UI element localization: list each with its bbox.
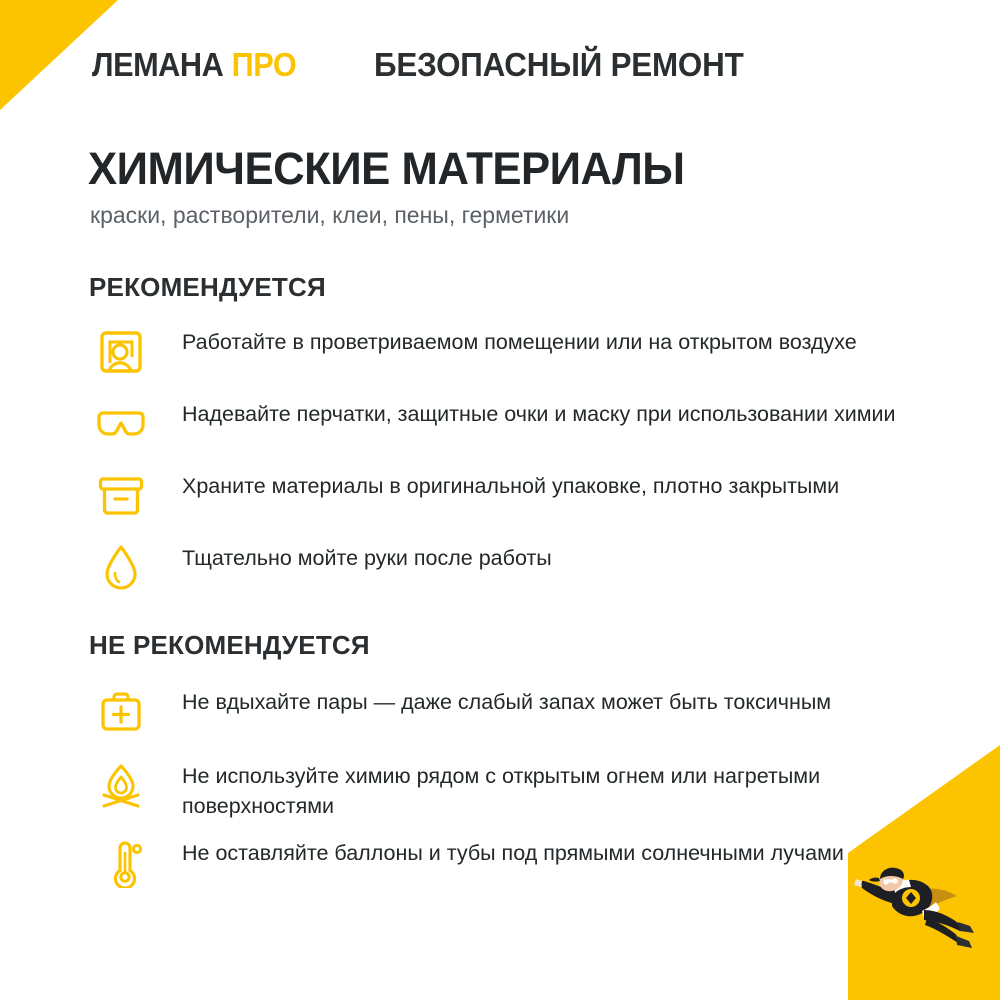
campfire-icon xyxy=(92,758,150,814)
list-item-text: Не используйте химию рядом с открытым ог… xyxy=(150,756,922,821)
list-item: Работайте в проветриваемом помещении или… xyxy=(92,322,922,384)
poster-header: ЛЕМАНАПРО БЕЗОПАСНЫЙ РЕМОНТ xyxy=(92,42,940,88)
list-item-text: Не вдыхайте пары — даже слабый запах мож… xyxy=(150,682,922,717)
window-person-icon xyxy=(92,324,150,380)
brand-logo-main: ЛЕМАНА xyxy=(92,46,223,83)
list-item-text: Тщательно мойте руки после работы xyxy=(150,538,922,573)
brand-logo-accent: ПРО xyxy=(232,46,297,83)
poster-canvas: ЛЕМАНАПРО БЕЗОПАСНЫЙ РЕМОНТ ХИМИЧЕСКИЕ М… xyxy=(0,0,1000,1000)
flying-superhero-mascot-icon xyxy=(832,848,982,958)
list-item: Не используйте химию рядом с открытым ог… xyxy=(92,756,922,821)
not-recommended-list: Не вдыхайте пары — даже слабый запах мож… xyxy=(92,682,922,907)
list-item: Надевайте перчатки, защитные очки и маск… xyxy=(92,394,922,456)
list-item-text: Не оставляйте баллоны и тубы под прямыми… xyxy=(150,833,922,868)
list-item: Храните материалы в оригинальной упаковк… xyxy=(92,466,922,528)
water-drop-icon xyxy=(92,540,150,596)
list-item-text: Надевайте перчатки, защитные очки и маск… xyxy=(150,394,922,429)
thermometer-icon xyxy=(92,835,150,891)
first-aid-kit-icon xyxy=(92,684,150,740)
brand-logo: ЛЕМАНАПРО xyxy=(92,46,296,84)
list-item: Тщательно мойте руки после работы xyxy=(92,538,922,600)
list-item-text: Работайте в проветриваемом помещении или… xyxy=(150,322,922,357)
list-item: Не вдыхайте пары — даже слабый запах мож… xyxy=(92,682,922,744)
section-heading-recommended: РЕКОМЕНДУЕТСЯ xyxy=(89,272,326,303)
safety-goggles-icon xyxy=(92,396,150,452)
recommended-list: Работайте в проветриваемом помещении или… xyxy=(92,322,922,610)
page-subtitle: краски, растворители, клеи, пены, гермет… xyxy=(90,202,569,229)
campaign-title: БЕЗОПАСНЫЙ РЕМОНТ xyxy=(374,46,744,84)
page-title: ХИМИЧЕСКИЕ МАТЕРИАЛЫ xyxy=(88,143,684,195)
list-item-text: Храните материалы в оригинальной упаковк… xyxy=(150,466,922,501)
section-heading-not-recommended: НЕ РЕКОМЕНДУЕТСЯ xyxy=(89,630,370,661)
list-item: Не оставляйте баллоны и тубы под прямыми… xyxy=(92,833,922,895)
storage-box-icon xyxy=(92,468,150,524)
